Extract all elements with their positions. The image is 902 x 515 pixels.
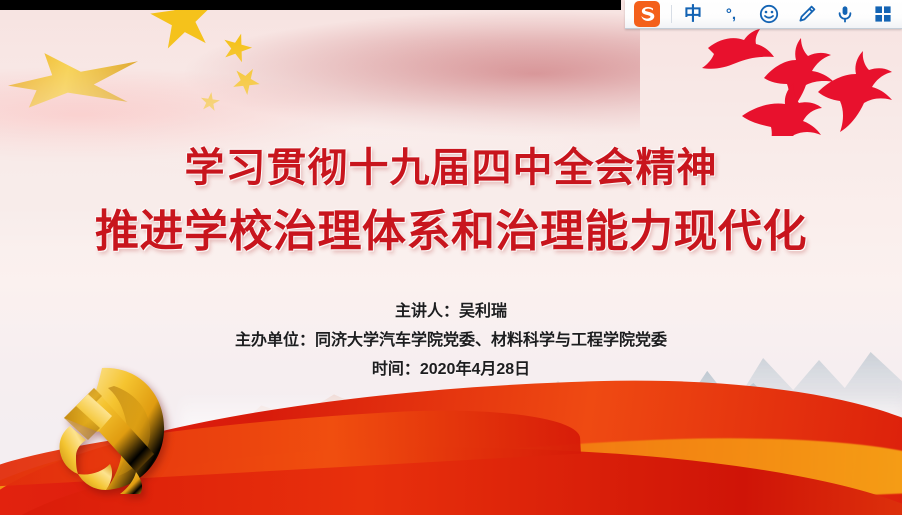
chinese-mode-label: 中 <box>684 5 702 23</box>
top-black-bar <box>0 0 621 10</box>
slide-title-block: 学习贯彻十九届四中全会精神 推进学校治理体系和治理能力现代化 <box>0 146 902 256</box>
presentation-slide: 学习贯彻十九届四中全会精神 推进学校治理体系和治理能力现代化 主讲人：吴利瑞 主… <box>0 0 902 515</box>
toolbox-icon[interactable] <box>864 0 902 29</box>
punctuation-toggle[interactable]: °, <box>712 0 750 29</box>
voice-input-icon[interactable] <box>826 0 864 29</box>
sogou-ime-toolbar[interactable]: 中 °, <box>625 0 902 29</box>
chinese-english-toggle[interactable]: 中 <box>674 0 712 29</box>
punctuation-mode-label: °, <box>726 7 736 22</box>
date-line: 时间：2020年4月28日 <box>0 358 902 382</box>
title-line-2: 推进学校治理体系和治理能力现代化 <box>0 207 902 256</box>
slide-subtitle-block: 主讲人：吴利瑞 主办单位：同济大学汽车学院党委、材料科学与工程学院党委 时间：2… <box>0 300 902 382</box>
flying-doves-icon <box>690 26 895 136</box>
speaker-line: 主讲人：吴利瑞 <box>0 300 902 324</box>
emoji-icon[interactable] <box>750 0 788 29</box>
organizer-line: 主办单位：同济大学汽车学院党委、材料科学与工程学院党委 <box>0 329 902 353</box>
handwriting-icon[interactable] <box>788 0 826 29</box>
ime-separator <box>671 5 672 23</box>
title-line-1: 学习贯彻十九届四中全会精神 <box>0 146 902 191</box>
sogou-logo-icon[interactable] <box>625 0 669 29</box>
